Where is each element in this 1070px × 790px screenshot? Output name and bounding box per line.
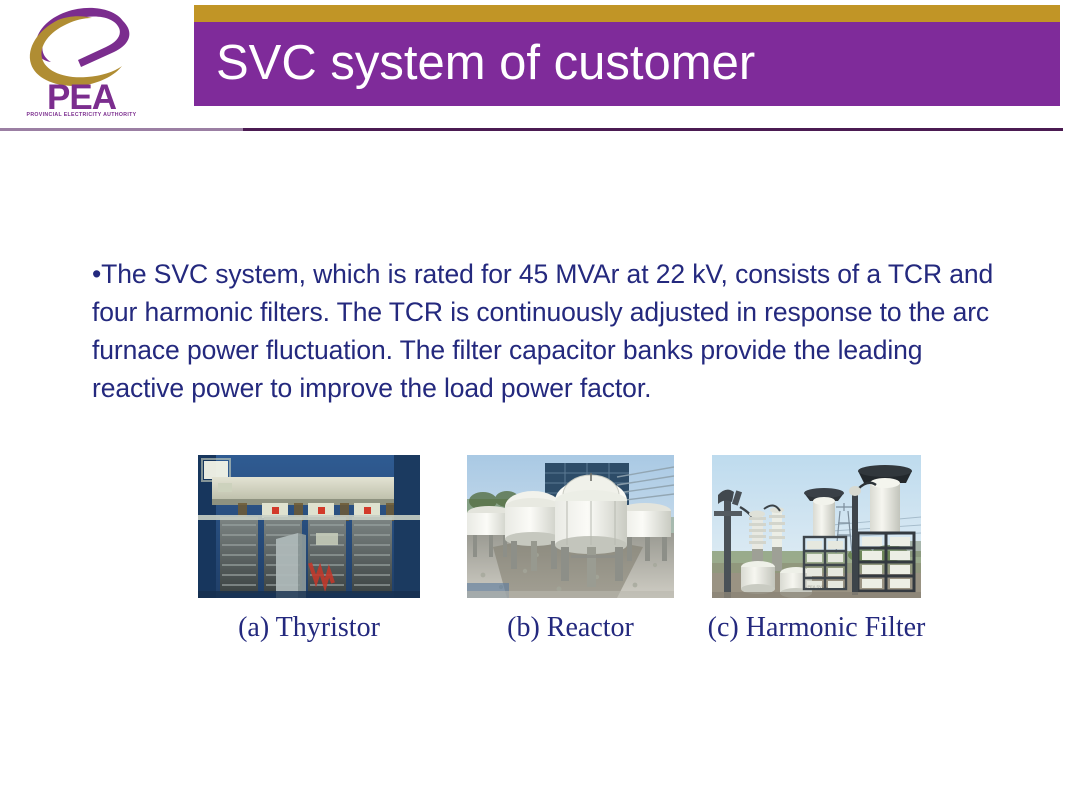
svg-text:PEA SVC: PEA SVC — [807, 584, 824, 589]
figure-caption-harmonic-filter: (c) Harmonic Filter — [708, 612, 926, 644]
figure-caption-reactor: (b) Reactor — [507, 612, 634, 644]
title-banner: SVC system of customer — [194, 22, 1060, 106]
pea-logo-subtitle: PROVINCIAL ELECTRICITY AUTHORITY — [14, 112, 149, 118]
pea-logo: PEA PROVINCIAL ELECTRICITY AUTHORITY — [14, 4, 149, 126]
reactor-photo — [467, 455, 674, 598]
pea-wordmark: PEA — [14, 82, 149, 114]
header-divider-right-segment — [243, 128, 1063, 131]
figure-row: (a) Thyristor — [0, 455, 1070, 655]
thyristor-valve-photo — [198, 455, 420, 598]
figure-harmonic-filter: PEA SVC (c) Harmonic Filter — [712, 455, 921, 598]
header-divider — [0, 128, 1070, 131]
figure-reactor: (b) Reactor — [467, 455, 674, 598]
header-divider-left-segment — [0, 128, 243, 131]
figure-thyristor: (a) Thyristor — [198, 455, 420, 598]
slide-canvas: PEA PROVINCIAL ELECTRICITY AUTHORITY SVC… — [0, 0, 1070, 790]
title-accent-bar — [194, 5, 1060, 22]
page-title: SVC system of customer — [216, 30, 1050, 96]
body-bullet-paragraph: •The SVC system, which is rated for 45 M… — [92, 255, 1017, 407]
figure-caption-thyristor: (a) Thyristor — [238, 612, 380, 644]
harmonic-filter-photo: PEA SVC — [712, 455, 921, 598]
